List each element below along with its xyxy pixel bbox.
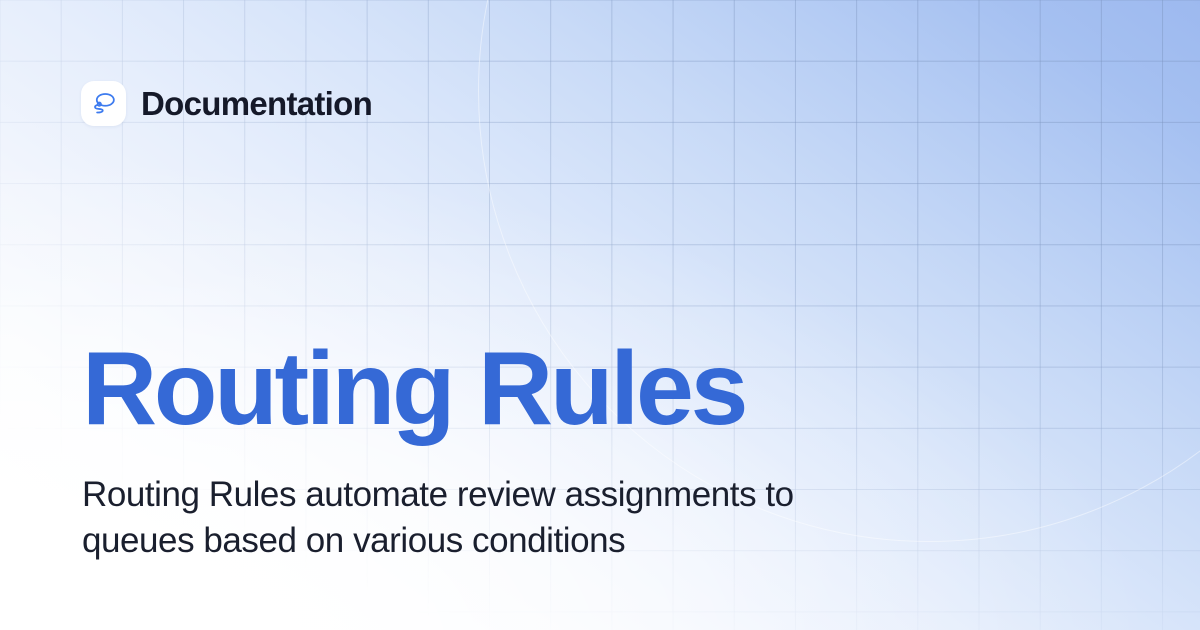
- brand-badge: [81, 81, 126, 126]
- brand-name-label: Documentation: [141, 87, 372, 120]
- page-title: Routing Rules: [82, 336, 1140, 442]
- hero-content: Routing Rules Routing Rules automate rev…: [82, 336, 1140, 564]
- page-subtitle: Routing Rules automate review assignment…: [82, 472, 872, 564]
- brand-row: Documentation: [81, 81, 372, 126]
- og-card: Documentation Routing Rules Routing Rule…: [0, 0, 1200, 630]
- lasso-icon: [89, 89, 119, 119]
